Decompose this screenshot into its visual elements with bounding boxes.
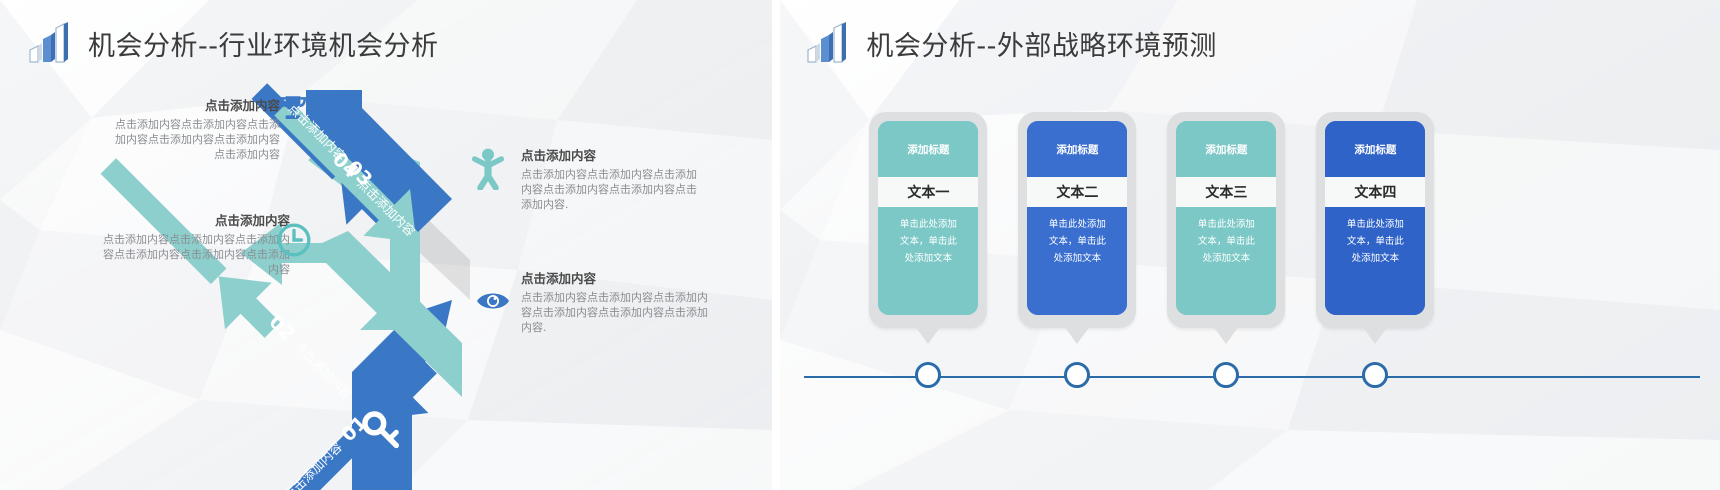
text-line: 点击添加内容点击添加内容点击添 (60, 117, 280, 132)
key-icon (360, 408, 404, 457)
slide-right-header: 机会分析--外部战略环境预测 (804, 22, 1217, 64)
card-3-frame: 添加标题 文本三 单击此处添加 文本，单击此 处添加文本 (1167, 112, 1285, 328)
bar-chart-logo-icon (804, 22, 850, 64)
card-4-body: 单击此处添加 文本，单击此 处添加文本 (1325, 207, 1425, 315)
card-body-line: 处添加文本 (1332, 250, 1418, 267)
card-2-body: 单击此处添加 文本，单击此 处添加文本 (1027, 207, 1127, 315)
card-4[interactable]: 添加标题 文本四 单击此处添加 文本，单击此 处添加文本 (1316, 112, 1434, 328)
card-4-tail (1362, 326, 1388, 344)
card-body-line: 文本，单击此 (1034, 233, 1120, 250)
card-1-tail (915, 326, 941, 344)
person-icon (470, 148, 506, 195)
card-1[interactable]: 添加标题 文本一 单击此处添加 文本，单击此 处添加文本 (869, 112, 987, 328)
card-1-body: 单击此处添加 文本，单击此 处添加文本 (878, 207, 978, 315)
text-line: 点击添加内容点击添加内容点击添加内 (521, 290, 756, 305)
slide-right: 机会分析--外部战略环境预测 添加标题 文本一 单击此处添加 文本，单击此 处添… (780, 0, 1720, 490)
timeline-dot-3[interactable] (1213, 362, 1239, 388)
text-line: 内容点击添加内容点击添加内容点击 (521, 182, 756, 197)
text-block-person: 点击添加内容 点击添加内容点击添加内容点击添加 内容点击添加内容点击添加内容点击… (521, 145, 756, 212)
card-2-inner: 添加标题 文本二 单击此处添加 文本，单击此 处添加文本 (1027, 121, 1127, 315)
text-block-person-title: 点击添加内容 (521, 145, 756, 164)
card-body-line: 单击此处添加 (1332, 216, 1418, 233)
card-1-heading: 添加标题 (878, 121, 978, 177)
card-body-line: 文本，单击此 (885, 233, 971, 250)
card-3[interactable]: 添加标题 文本三 单击此处添加 文本，单击此 处添加文本 (1167, 112, 1285, 328)
card-body-line: 文本，单击此 (1332, 233, 1418, 250)
timeline-dot-1[interactable] (915, 362, 941, 388)
text-block-trophy-title: 点击添加内容 (60, 95, 280, 114)
card-body-line: 处添加文本 (1183, 250, 1269, 267)
text-line: 点击添加内容点击添加内容点击添加 (521, 167, 756, 182)
text-line: 点击添加内容点击添加内容点击添加内 (50, 232, 290, 247)
card-2-heading: 添加标题 (1027, 121, 1127, 177)
card-2-tail (1064, 326, 1090, 344)
text-line: 容点击添加内容点击添加内容点击添加 (521, 305, 756, 320)
card-2-frame: 添加标题 文本二 单击此处添加 文本，单击此 处添加文本 (1018, 112, 1136, 328)
slide-divider (772, 0, 780, 490)
card-3-band: 文本三 (1176, 177, 1276, 207)
card-body-line: 文本，单击此 (1183, 233, 1269, 250)
timeline-dot-2[interactable] (1064, 362, 1090, 388)
card-body-line: 处添加文本 (1034, 250, 1120, 267)
card-body-line: 单击此处添加 (1034, 216, 1120, 233)
card-2[interactable]: 添加标题 文本二 单击此处添加 文本，单击此 处添加文本 (1018, 112, 1136, 328)
bar-chart-logo-icon (26, 22, 72, 64)
slide-left-title: 机会分析--行业环境机会分析 (88, 24, 439, 63)
card-3-body: 单击此处添加 文本，单击此 处添加文本 (1176, 207, 1276, 315)
card-1-frame: 添加标题 文本一 单击此处添加 文本，单击此 处添加文本 (869, 112, 987, 328)
slide-right-title: 机会分析--外部战略环境预测 (866, 24, 1217, 63)
eye-icon (475, 288, 511, 319)
text-line: 容点击添加内容点击添加内容点击添加 (50, 247, 290, 262)
card-1-band: 文本一 (878, 177, 978, 207)
text-line: 点击添加内容 (60, 147, 280, 162)
card-row: 添加标题 文本一 单击此处添加 文本，单击此 处添加文本 添加标题 (780, 112, 1720, 352)
card-body-line: 单击此处添加 (1183, 216, 1269, 233)
card-3-heading: 添加标题 (1176, 121, 1276, 177)
card-2-band: 文本二 (1027, 177, 1127, 207)
text-block-eye-title: 点击添加内容 (521, 268, 756, 287)
text-line: 内容 (50, 262, 290, 277)
card-body-line: 单击此处添加 (885, 216, 971, 233)
timeline-dot-4[interactable] (1362, 362, 1388, 388)
card-3-tail (1213, 326, 1239, 344)
slide-left-header: 机会分析--行业环境机会分析 (26, 22, 439, 64)
card-4-inner: 添加标题 文本四 单击此处添加 文本，单击此 处添加文本 (1325, 121, 1425, 315)
two-slide-canvas: 机会分析--行业环境机会分析 (0, 0, 1720, 490)
text-line: 加内容点击添加内容点击添加内容 (60, 132, 280, 147)
text-block-eye: 点击添加内容 点击添加内容点击添加内容点击添加内 容点击添加内容点击添加内容点击… (521, 268, 756, 335)
card-3-inner: 添加标题 文本三 单击此处添加 文本，单击此 处添加文本 (1176, 121, 1276, 315)
text-block-clock-title: 点击添加内容 (50, 210, 290, 229)
text-block-clock: 点击添加内容 点击添加内容点击添加内容点击添加内 容点击添加内容点击添加内容点击… (50, 210, 290, 277)
card-4-frame: 添加标题 文本四 单击此处添加 文本，单击此 处添加文本 (1316, 112, 1434, 328)
text-block-trophy: 点击添加内容 点击添加内容点击添加内容点击添 加内容点击添加内容点击添加内容 点… (60, 95, 280, 162)
text-line: 添加内容. (521, 197, 756, 212)
slide-left: 机会分析--行业环境机会分析 (0, 0, 772, 490)
card-body-line: 处添加文本 (885, 250, 971, 267)
card-4-band: 文本四 (1325, 177, 1425, 207)
clock-icon (276, 222, 312, 263)
text-line: 内容. (521, 320, 756, 335)
card-1-inner: 添加标题 文本一 单击此处添加 文本，单击此 处添加文本 (878, 121, 978, 315)
card-4-heading: 添加标题 (1325, 121, 1425, 177)
